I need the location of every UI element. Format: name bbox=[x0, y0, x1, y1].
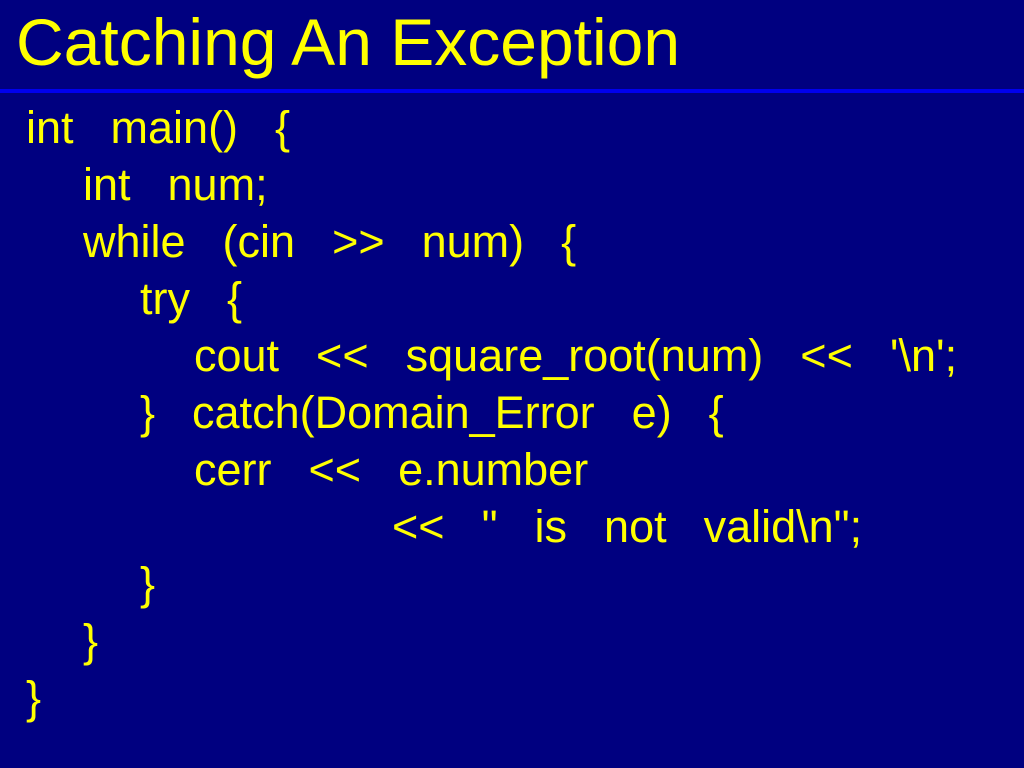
slide-title-area: Catching An Exception bbox=[0, 0, 1024, 90]
code-line: } bbox=[140, 555, 155, 612]
code-line: } catch(Domain_Error e) { bbox=[140, 384, 724, 441]
code-line: << " is not valid\n"; bbox=[392, 498, 862, 555]
code-line: } bbox=[26, 669, 41, 726]
slide: Catching An Exception int main() { int n… bbox=[0, 0, 1024, 768]
code-line: int main() { bbox=[26, 99, 290, 156]
code-line: cerr << e.number bbox=[194, 441, 588, 498]
code-line: cout << square_root(num) << '\n'; bbox=[194, 327, 957, 384]
page-title: Catching An Exception bbox=[16, 0, 680, 86]
code-line: int num; bbox=[83, 156, 268, 213]
code-line: while (cin >> num) { bbox=[83, 213, 576, 270]
title-divider bbox=[0, 89, 1024, 93]
code-line: } bbox=[83, 612, 98, 669]
code-line: try { bbox=[140, 270, 242, 327]
code-block: int main() { int num; while (cin >> num)… bbox=[0, 99, 1024, 768]
